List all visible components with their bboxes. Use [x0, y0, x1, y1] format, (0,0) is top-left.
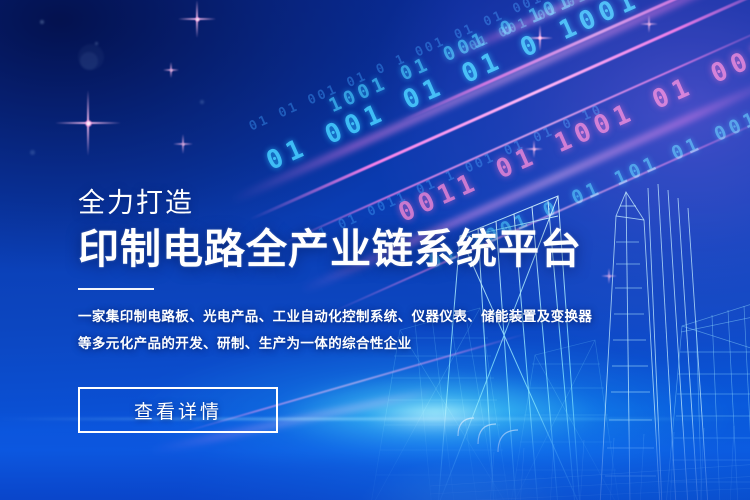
hero-eyebrow: 全力打造	[78, 190, 698, 217]
binary-row: 01 001 01 01 0 1001 01 001 1 01	[467, 0, 750, 54]
star-sparkle-icon	[173, 134, 193, 154]
bokeh-dot	[30, 150, 35, 155]
view-details-button[interactable]: 查看详情	[78, 387, 278, 433]
hero-content: 全力打造 印制电路全产业链系统平台 一家集印制电路板、光电产品、工业自动化控制系…	[78, 190, 698, 433]
binary-row: 01 01 001 01 0 1 001 01 01 0011	[247, 0, 556, 134]
bokeh-dot	[78, 44, 104, 70]
star-sparkle-icon	[525, 140, 543, 158]
star-sparkle-icon	[527, 25, 553, 51]
hero-description-line-1: 一家集印制电路板、光电产品、工业自动化控制系统、仪器仪表、储能装置及变换器	[78, 304, 698, 330]
hero-banner: 01 01 001 01 0 1 001 01 01 0011 01 001 0…	[0, 0, 750, 500]
star-sparkle-icon	[55, 90, 121, 156]
hero-description-line-2: 等多元化产品的开发、研制、生产为一体的综合性企业	[78, 331, 698, 357]
star-sparkle-icon	[178, 0, 216, 38]
star-sparkle-icon	[640, 15, 658, 33]
hero-description: 一家集印制电路板、光电产品、工业自动化控制系统、仪器仪表、储能装置及变换器 等多…	[78, 304, 698, 357]
hero-divider	[78, 288, 154, 290]
bokeh-dot	[40, 20, 44, 24]
bokeh-dot	[200, 100, 204, 104]
binary-row: 01 001 01 01 0 1001 01 001 1 01	[262, 0, 750, 177]
binary-row: 1001 01 001 0 101 01 0011 01 1	[326, 0, 750, 117]
hero-headline: 印制电路全产业链系统平台	[78, 228, 698, 271]
star-sparkle-icon	[163, 62, 179, 78]
